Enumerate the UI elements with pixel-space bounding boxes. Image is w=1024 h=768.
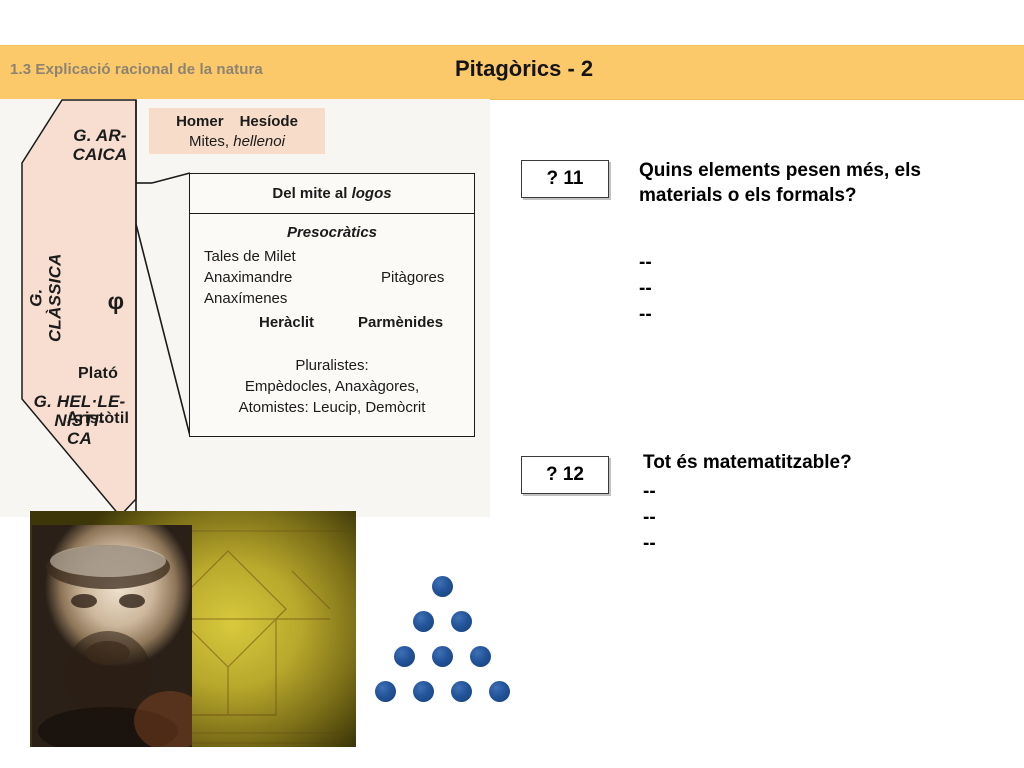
- question-answers-11: -- -- --: [639, 250, 652, 328]
- answer-line: --: [639, 276, 652, 302]
- logos-title-italic: logos: [352, 185, 392, 202]
- tetractys-dot: [432, 646, 453, 667]
- period-label-arcaica: G. AR-CAICA: [50, 127, 150, 164]
- hellenoi-label: hellenoi: [233, 133, 285, 150]
- philosopher-pitagores: Pitàgores: [381, 269, 444, 286]
- period-label-classica: G. CLÀSSICA: [27, 243, 64, 353]
- tetractys-dot: [375, 681, 396, 702]
- question-answers-12: -- -- --: [643, 479, 656, 557]
- philosopher-plato: Plató: [50, 365, 146, 383]
- question-tag-11[interactable]: ? 11: [521, 160, 609, 198]
- name-hesiode: Hesíode: [240, 113, 298, 130]
- question-text-11: Quins elements pesen més, els materials …: [639, 158, 939, 208]
- answer-line: --: [643, 479, 656, 505]
- tetractys-dot: [470, 646, 491, 667]
- philosopher-aristotil: Aristòtil: [46, 410, 150, 428]
- answer-line: --: [643, 505, 656, 531]
- page-title: Pitagòrics - 2: [455, 56, 593, 82]
- logos-title-plain: Del mite al: [272, 185, 351, 202]
- question-text-12: Tot és matematitzable?: [643, 450, 963, 475]
- philosopher-anaximandre: Anaximandre: [204, 269, 292, 286]
- philosopher-parmenides: Parmènides: [358, 314, 443, 331]
- header-bar: 1.3 Explicació racional de la natura Pit…: [0, 45, 1024, 100]
- del-mite-al-logos-box: Del mite al logos Presocràtics Tales de …: [189, 173, 475, 437]
- answer-line: --: [639, 250, 652, 276]
- pluralists-line-3: Atomistes: Leucip, Demòcrit: [190, 399, 474, 416]
- tetractys-dot: [451, 611, 472, 632]
- bust-shading: [32, 525, 192, 747]
- pluralists-heading: Pluralistes:: [190, 357, 474, 374]
- tetractys-dot: [451, 681, 472, 702]
- pluralists-line-2: Empèdocles, Anaxàgores,: [190, 378, 474, 395]
- answer-line: --: [643, 531, 656, 557]
- connector-line-top: [152, 173, 190, 183]
- slide-root: 1.3 Explicació racional de la natura Pit…: [0, 0, 1024, 768]
- homer-hesiode-band: HomerHesíode Mites, hellenoi: [149, 108, 325, 154]
- tetractys-dots: [370, 568, 515, 703]
- question-tag-12[interactable]: ? 12: [521, 456, 609, 494]
- logos-box-title: Del mite al logos: [190, 174, 474, 214]
- homer-hesiode-names: HomerHesíode: [149, 113, 325, 130]
- tetractys-dot: [489, 681, 510, 702]
- tetractys-dot: [432, 576, 453, 597]
- philosopher-tales: Tales de Milet: [204, 248, 296, 265]
- mites-hellenoi-line: Mites, hellenoi: [149, 133, 325, 150]
- connector-line-bottom: [136, 224, 190, 436]
- header-subtitle: 1.3 Explicació racional de la natura: [10, 61, 263, 78]
- phi-symbol: φ: [99, 289, 133, 314]
- pythagoras-bust: [32, 525, 192, 747]
- answer-line: --: [639, 302, 652, 328]
- tetractys-dot: [413, 611, 434, 632]
- tetractys-dot: [413, 681, 434, 702]
- philosopher-heraclit: Heràclit: [259, 314, 314, 331]
- mites-label: Mites,: [189, 133, 229, 150]
- name-homer: Homer: [176, 113, 224, 130]
- greek-philosophy-diagram: G. AR-CAICA G. CLÀSSICA G. HEL·LE-NÍSTI-…: [0, 99, 490, 517]
- pythagoras-photo: [30, 511, 356, 747]
- presocratics-heading: Presocràtics: [190, 224, 474, 241]
- tetractys-dot: [394, 646, 415, 667]
- philosopher-anaximenes: Anaxímenes: [204, 290, 287, 307]
